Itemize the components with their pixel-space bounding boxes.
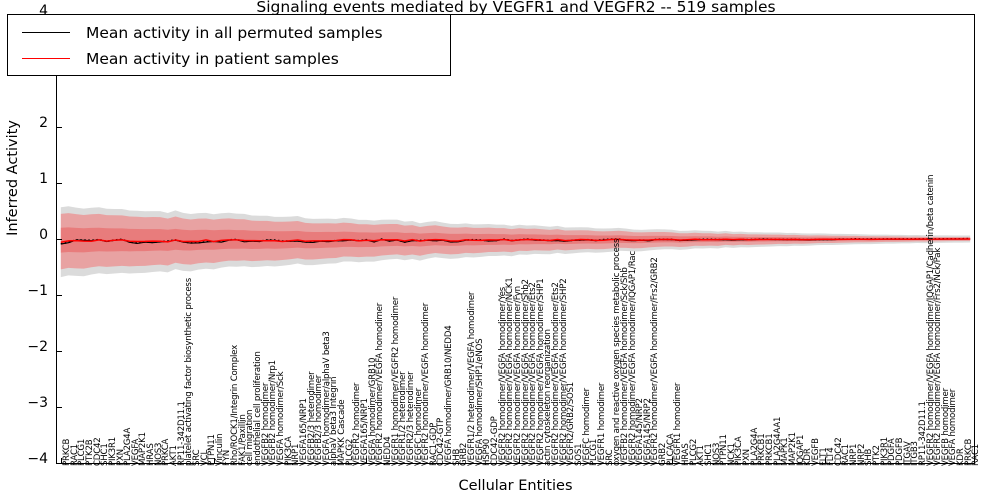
legend-swatch-permuted bbox=[22, 32, 70, 33]
x-tick-label: RAC1 bbox=[972, 444, 1000, 466]
y-tick-label: 1 bbox=[16, 174, 48, 184]
y-tick-label: −3 bbox=[16, 398, 48, 408]
y-tick-label: −1 bbox=[16, 286, 48, 296]
y-tick-mark bbox=[57, 295, 62, 296]
x-axis-label: Cellular Entities bbox=[56, 478, 975, 494]
y-tick-mark bbox=[57, 183, 62, 184]
y-tick-mark bbox=[57, 407, 62, 408]
y-tick-label: −2 bbox=[16, 342, 48, 352]
y-tick-mark bbox=[57, 239, 62, 240]
y-tick-label: 2 bbox=[16, 118, 48, 128]
y-tick-label: −4 bbox=[16, 454, 48, 464]
legend-entry-permuted: Mean activity in all permuted samples bbox=[8, 20, 450, 46]
y-tick-label: 0 bbox=[16, 230, 48, 240]
legend-swatch-patient bbox=[22, 58, 70, 59]
y-tick-mark bbox=[57, 351, 62, 352]
legend-label-patient: Mean activity in patient samples bbox=[86, 47, 339, 71]
chart-legend: Mean activity in all permuted samples Me… bbox=[7, 14, 451, 76]
chart-figure: Signaling events mediated by VEGFR1 and … bbox=[0, 0, 1000, 500]
legend-label-permuted: Mean activity in all permuted samples bbox=[86, 21, 383, 45]
y-tick-mark bbox=[57, 127, 62, 128]
legend-entry-patient: Mean activity in patient samples bbox=[8, 46, 450, 72]
